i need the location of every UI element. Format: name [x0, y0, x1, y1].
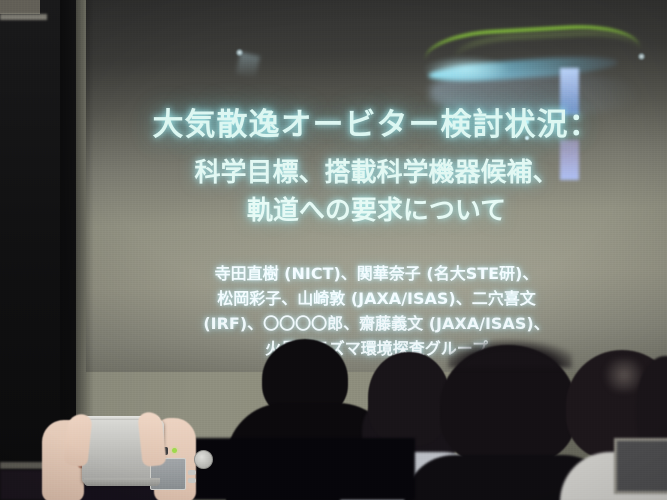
audience-head-2-hair: [448, 338, 572, 368]
camera-button-upper: [188, 470, 196, 475]
wall-frame-right: [614, 438, 667, 494]
camera-button-lower: [188, 478, 196, 483]
camera-mode-dial: [194, 450, 213, 469]
foreground-dark-area: [185, 438, 415, 500]
photograph: 大気散逸オービター検討状況： 科学目標、搭載科学機器候補、 軌道への要求について…: [0, 0, 667, 500]
audience-head-1: [368, 352, 450, 446]
camera-and-hands: [24, 398, 214, 500]
camera-bottom-plate: [84, 478, 160, 486]
camera-led-indicator: [172, 448, 177, 453]
